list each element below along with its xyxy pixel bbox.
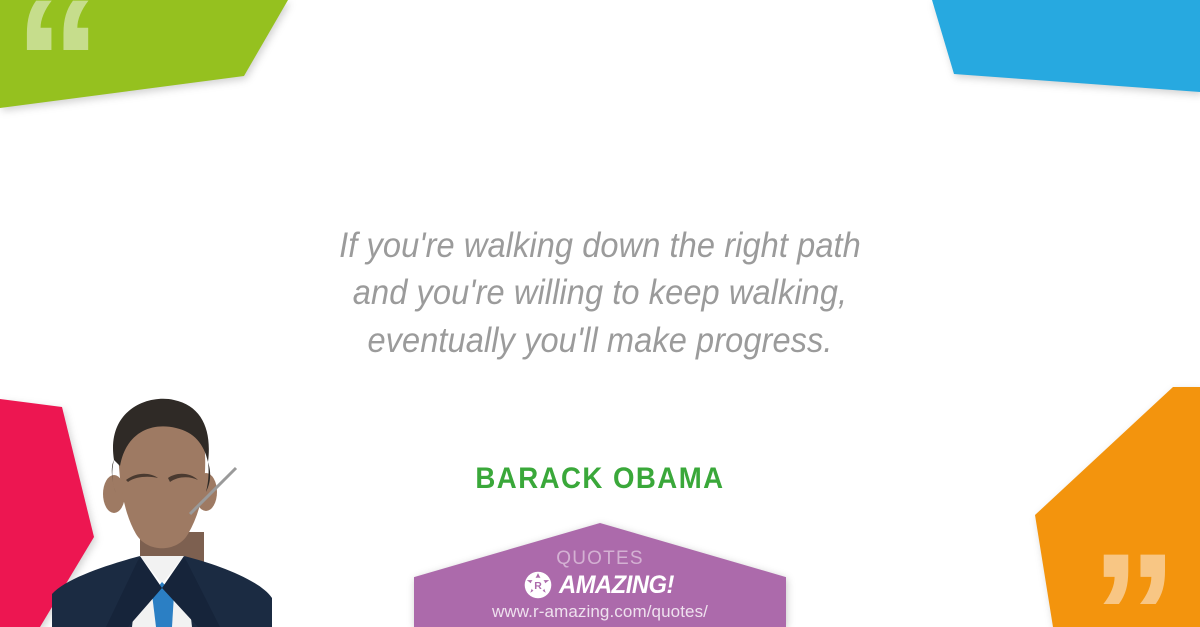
author-name: BARACK OBAMA bbox=[48, 462, 1152, 496]
badge-wordmark: AMAZING! bbox=[559, 573, 674, 598]
badge-quotes-label: QUOTES bbox=[556, 549, 643, 568]
badge-content: QUOTES R AMAZING! www.r-amazing.com/quot… bbox=[414, 523, 786, 627]
r-star-logo-icon: R bbox=[524, 571, 552, 599]
quote-block: If you're walking down the right path an… bbox=[0, 222, 1200, 364]
quote-line-1: If you're walking down the right path bbox=[42, 222, 1158, 269]
blue-polygon bbox=[932, 0, 1200, 92]
brand-badge[interactable]: QUOTES R AMAZING! www.r-amazing.com/quot… bbox=[414, 523, 786, 627]
badge-logo-row: R AMAZING! bbox=[524, 571, 677, 599]
r-logo-letter: R bbox=[534, 580, 542, 592]
orange-corner-shape: ” bbox=[995, 387, 1200, 627]
closing-quote-icon: ” bbox=[1091, 528, 1179, 627]
blue-corner-shape bbox=[908, 0, 1200, 92]
quote-poster: “ ” bbox=[0, 0, 1200, 627]
blue-polygon-svg bbox=[908, 0, 1200, 92]
quote-text: If you're walking down the right path an… bbox=[42, 222, 1158, 364]
quote-line-2: and you're willing to keep walking, bbox=[42, 269, 1158, 316]
portrait-svg bbox=[52, 382, 302, 627]
opening-quote-icon: “ bbox=[14, 0, 102, 149]
green-corner-shape: “ bbox=[0, 0, 290, 115]
author-portrait-illustration bbox=[52, 382, 302, 627]
badge-url[interactable]: www.r-amazing.com/quotes/ bbox=[492, 603, 708, 620]
quote-line-3: eventually you'll make progress. bbox=[42, 317, 1158, 364]
